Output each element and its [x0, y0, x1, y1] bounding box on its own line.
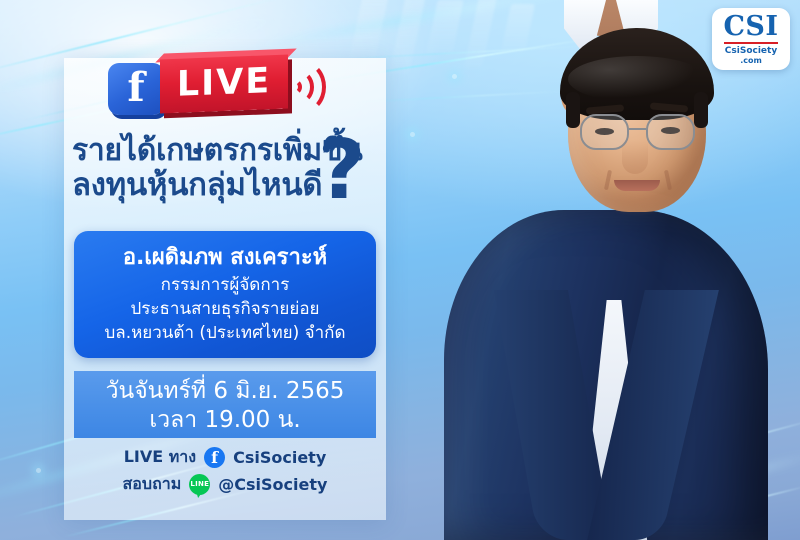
contact-section: LIVE ทาง f CsiSociety สอบถาม LINE @CsiSo…	[74, 444, 376, 498]
contact-label-live: LIVE ทาง	[124, 445, 196, 470]
speaker-name: อ.เผดิมภพ สงเคราะห์	[74, 243, 376, 273]
question-mark: ?	[318, 130, 366, 212]
facebook-icon[interactable]: f	[204, 447, 225, 468]
contact-label-inquiry: สอบถาม	[123, 472, 182, 497]
event-date: วันจันทร์ที่ 6 มิ.ย. 2565	[74, 377, 376, 406]
contact-row-facebook: LIVE ทาง f CsiSociety	[74, 444, 376, 471]
speaker-role-line-3: บล.หยวนต้า (ประเทศไทย) จำกัด	[74, 321, 376, 345]
logo-society-text: CsiSociety	[712, 46, 790, 56]
facebook-handle[interactable]: CsiSociety	[233, 448, 326, 467]
event-time: เวลา 19.00 น.	[74, 406, 376, 435]
live-label: LIVE	[160, 55, 288, 114]
speaker-info-box: อ.เผดิมภพ สงเคราะห์ กรรมการผู้จัดการ ประ…	[74, 231, 376, 358]
logo-main-text: CSI	[712, 13, 790, 41]
sideburn-left	[566, 92, 580, 128]
live-promo-poster: f LIVE รายได้เกษตรกรเพิ่มขึ้น ลงทุนหุ้นก…	[0, 0, 800, 540]
csi-logo[interactable]: CSI CsiSociety .com	[712, 8, 790, 70]
facebook-f-glyph: f	[108, 63, 164, 115]
speaker-role-line-1: กรรมการผู้จัดการ	[74, 273, 376, 297]
speaker-role-line-2: ประธานสายธุรกิจรายย่อย	[74, 297, 376, 321]
glasses-lens-right	[646, 114, 695, 150]
chin	[596, 192, 678, 216]
speaker-portrait	[400, 0, 800, 540]
glasses-bridge	[629, 128, 646, 130]
broadcast-wave-outer	[282, 61, 326, 113]
mouth	[614, 180, 660, 191]
nose	[622, 140, 648, 174]
line-handle[interactable]: @CsiSociety	[218, 475, 327, 494]
sideburn-right	[694, 92, 708, 128]
line-icon[interactable]: LINE	[189, 474, 210, 495]
schedule-box: วันจันทร์ที่ 6 มิ.ย. 2565 เวลา 19.00 น.	[74, 371, 376, 438]
logo-domain-text: .com	[712, 56, 790, 65]
contact-row-line: สอบถาม LINE @CsiSociety	[74, 471, 376, 498]
facebook-live-badge: f LIVE	[108, 55, 313, 117]
logo-divider	[724, 42, 778, 44]
